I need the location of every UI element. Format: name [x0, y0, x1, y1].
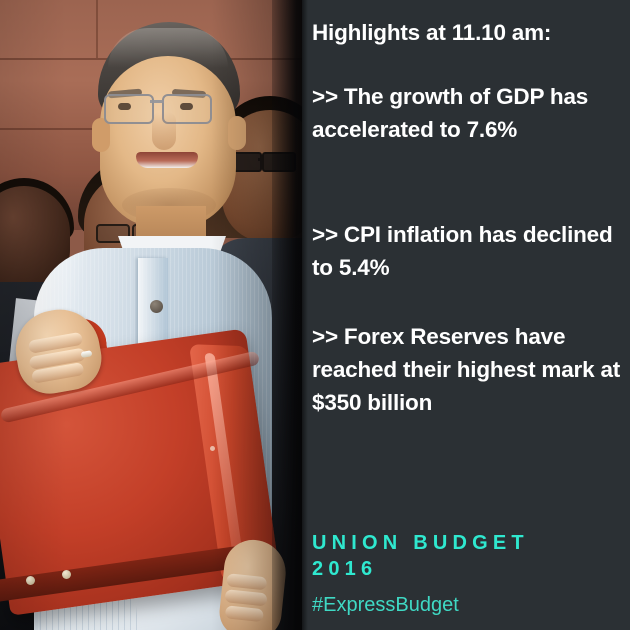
- finger: [224, 589, 267, 606]
- budget-photo: [0, 0, 302, 630]
- highlight-item-cpi: >> CPI inflation has declined to 5.4%: [312, 218, 624, 284]
- finger: [226, 573, 267, 590]
- infographic-canvas: Highlights at 11.10 am: >> The growth of…: [0, 0, 630, 630]
- foreground-silhouette: [272, 0, 302, 630]
- minister-nose: [152, 112, 176, 150]
- finger: [225, 605, 264, 622]
- minister-ear-right: [228, 116, 246, 150]
- finger-ring: [81, 350, 93, 358]
- briefcase-stud: [26, 576, 35, 585]
- brand-title-line1: UNION BUDGET: [312, 530, 529, 556]
- page-title: Highlights at 11.10 am:: [312, 16, 624, 49]
- highlights-text-panel: Highlights at 11.10 am: >> The growth of…: [302, 0, 630, 630]
- brand-title-line2: 2016: [312, 556, 529, 582]
- eyeglasses-icon: [104, 94, 154, 124]
- red-briefcase-group: [0, 318, 284, 618]
- brand-title: UNION BUDGET 2016: [312, 530, 529, 582]
- jacket-button: [150, 300, 163, 313]
- eyeglasses-bridge: [150, 100, 164, 103]
- highlight-item-forex: >> Forex Reserves have reached their hig…: [312, 320, 624, 419]
- hashtag-label: #ExpressBudget: [312, 594, 459, 617]
- wall-seam: [96, 0, 98, 58]
- sunglasses-bridge: [258, 158, 264, 161]
- highlight-item-gdp: >> The growth of GDP has accelerated to …: [312, 80, 624, 146]
- briefcase-stud: [62, 570, 71, 579]
- briefcase-rivet: [210, 446, 215, 451]
- minister-mouth: [136, 152, 198, 168]
- panel-inner-shadow: [302, 0, 308, 630]
